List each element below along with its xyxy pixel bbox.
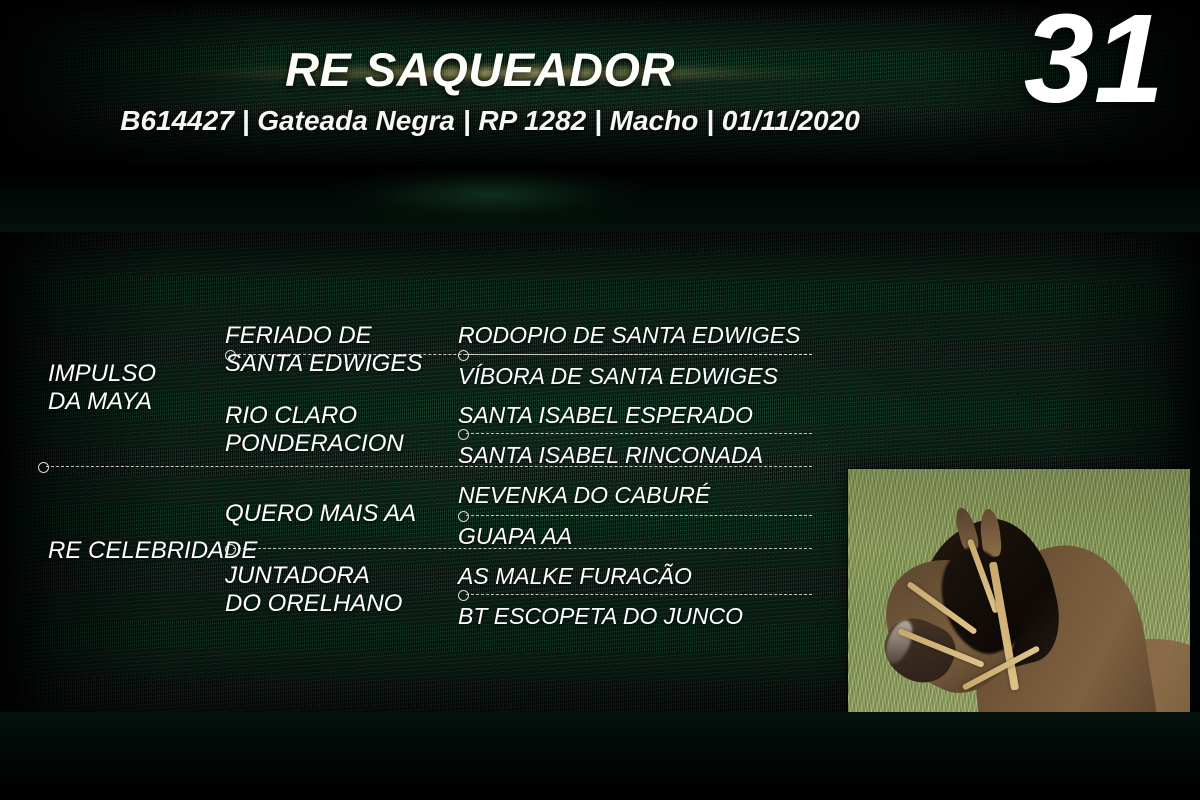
page-title: RE SAQUEADOR [0, 42, 960, 97]
lot-number-badge: 31 [1024, 0, 1164, 122]
pedigree-g3-8: BT ESCOPETA DO JUNCO [458, 603, 743, 630]
pedigree-g3-1: RODOPIO DE SANTA EDWIGES [458, 322, 800, 349]
pedigree-connector-g2-3 [466, 515, 812, 516]
pedigree-g2-2: RIO CLARO PONDERACION [225, 402, 404, 458]
pedigree-node-g2-1 [458, 350, 469, 361]
card-body: IMPULSO DA MAYA RE CELEBRIDADE FERIADO D… [0, 232, 1200, 712]
pedigree-connector-g2-1 [466, 354, 812, 355]
pedigree-node-g2-3 [458, 511, 469, 522]
divider-glow [280, 170, 700, 232]
pedigree-connector-g1-dam [233, 548, 812, 549]
card-footer [0, 712, 1200, 800]
pedigree-g1-sire: IMPULSO DA MAYA [48, 360, 156, 416]
pedigree-node-g1-sire [225, 350, 236, 361]
pedigree-node-g2-4 [458, 590, 469, 601]
auction-lot-card: RE SAQUEADOR B614427 | Gateada Negra | R… [0, 0, 1200, 800]
pedigree-connector-g2-2 [466, 433, 812, 434]
card-header: RE SAQUEADOR B614427 | Gateada Negra | R… [0, 0, 1200, 168]
pedigree-g3-5: NEVENKA DO CABURÉ [458, 482, 710, 509]
pedigree-g3-7: AS MALKE FURACÃO [458, 563, 692, 590]
pedigree-node-g1-dam [225, 544, 236, 555]
pedigree-g3-2: VÍBORA DE SANTA EDWIGES [458, 363, 778, 390]
pedigree-connector-root [46, 466, 812, 467]
horse-photo [848, 469, 1190, 712]
animal-details-line: B614427 | Gateada Negra | RP 1282 | Mach… [0, 105, 980, 137]
pedigree-g2-4: JUNTADORA DO ORELHANO [225, 562, 402, 618]
pedigree-node-g2-2 [458, 429, 469, 440]
pedigree-g2-3: QUERO MAIS AA [225, 500, 416, 528]
pedigree-g3-6: GUAPA AA [458, 523, 572, 550]
pedigree-g3-4: SANTA ISABEL RINCONADA [458, 442, 763, 469]
pedigree-g3-3: SANTA ISABEL ESPERADO [458, 402, 753, 429]
pedigree-node-root [38, 462, 49, 473]
pedigree-connector-g2-4 [466, 594, 812, 595]
pedigree-g2-1: FERIADO DE SANTA EDWIGES [225, 322, 422, 378]
